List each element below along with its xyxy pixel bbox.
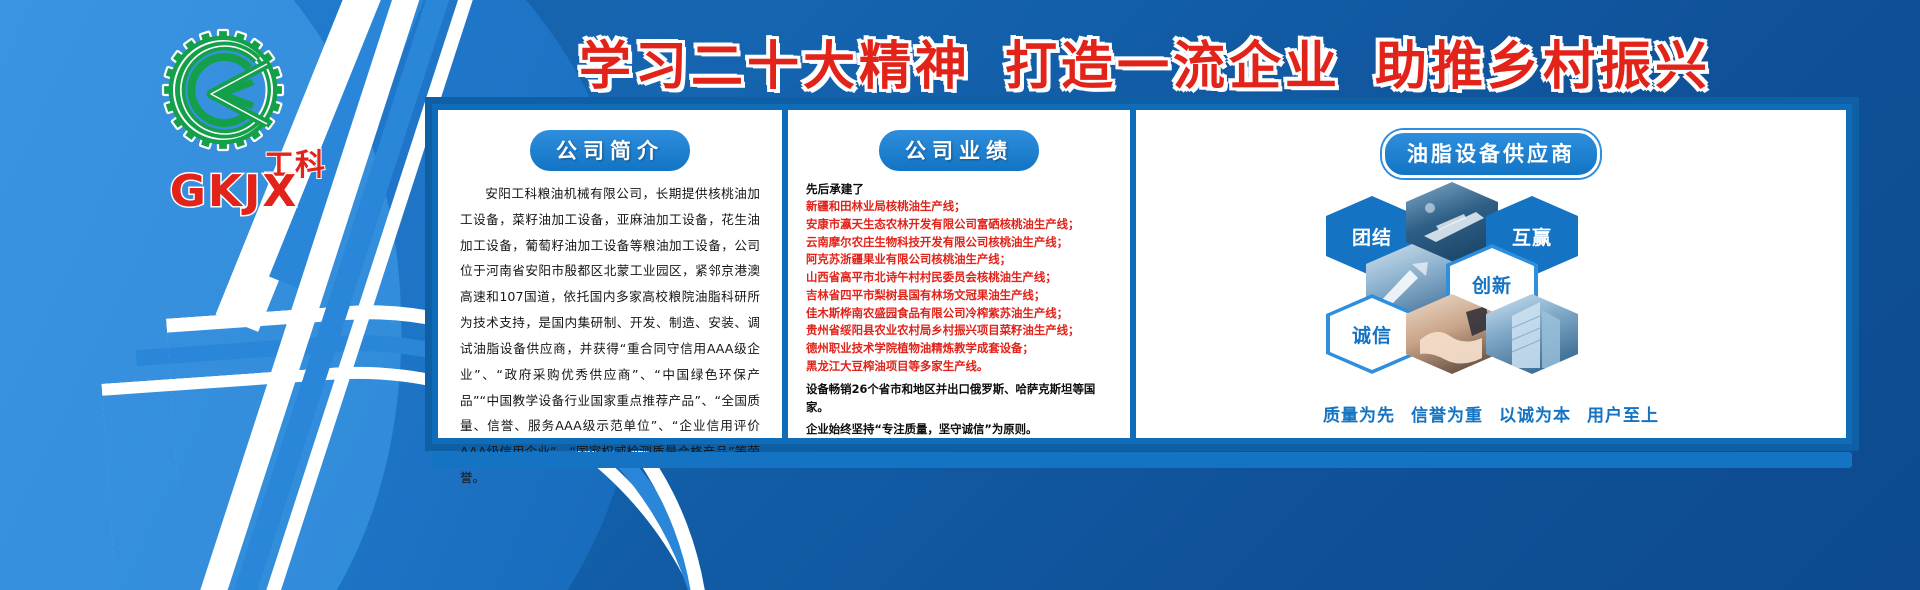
list-item: 吉林省四平市梨树县国有林场文冠果油生产线；: [806, 287, 1114, 305]
panel-title-company-profile: 公司简介: [530, 130, 690, 171]
panel-company-performance: 公司业绩 先后承建了 新疆和田林业局核桃油生产线； 安康市瀛天生态农林开发有限公…: [782, 110, 1130, 438]
slogan-part-3: 以诚为本: [1499, 406, 1571, 425]
headline-part-1: 学习二十大精神: [579, 38, 971, 96]
list-item: 云南摩尔农庄生物科技开发有限公司核桃油生产线；: [806, 234, 1114, 252]
list-item: 贵州省绥阳县农业农村局乡村振兴项目菜籽油生产线；: [806, 322, 1114, 340]
page-title: 学习二十大精神打造一流企业助推乡村振兴: [430, 24, 1860, 99]
panel-title-company-performance: 公司业绩: [879, 130, 1039, 171]
headline-part-2: 打造一流企业: [1005, 38, 1341, 96]
list-item: 阿克苏浙疆果业有限公司核桃油生产线；: [806, 251, 1114, 269]
slogan-part-1: 质量为先: [1323, 406, 1395, 425]
panel-company-profile: 公司简介 安阳工科粮油机械有限公司，长期提供核桃油加工设备，菜籽油加工设备，亚麻…: [438, 110, 782, 438]
supplier-badge: 油脂设备供应商: [1382, 130, 1600, 178]
list-item: 佳木斯桦南农盛园食品有限公司冷榨紫苏油生产线；: [806, 305, 1114, 323]
list-item: 新疆和田林业局核桃油生产线；: [806, 198, 1114, 216]
bottom-accent-band: [432, 452, 1852, 468]
headline-part-3: 助推乡村振兴: [1375, 38, 1711, 96]
slogan-part-2: 信誉为重: [1411, 406, 1483, 425]
company-logo: 工科 GKJX: [118, 28, 328, 208]
company-profile-text: 安阳工科粮油机械有限公司，长期提供核桃油加工设备，菜籽油加工设备，亚麻油加工设备…: [454, 181, 766, 491]
hex-label: 互赢: [1512, 223, 1552, 250]
panel-supplier: 油脂设备供应商 团结 互赢: [1130, 110, 1846, 438]
content-panels: 公司简介 安阳工科粮油机械有限公司，长期提供核桃油加工设备，菜籽油加工设备，亚麻…: [432, 104, 1852, 444]
supplier-slogan: 质量为先信誉为重以诚为本用户至上: [1136, 401, 1846, 426]
performance-footer-line-2: 企业始终坚持“专注质量，坚守诚信”为原则。: [806, 420, 1114, 438]
performance-intro: 先后承建了: [806, 181, 1114, 197]
hex-label: 团结: [1352, 223, 1392, 250]
performance-list: 新疆和田林业局核桃油生产线； 安康市瀛天生态农林开发有限公司富硒核桃油生产线； …: [806, 198, 1114, 376]
list-item: 山西省高平市北诗午村村民委员会核桃油生产线；: [806, 269, 1114, 287]
hex-label: 诚信: [1352, 321, 1392, 348]
list-item: 黑龙江大豆榨油项目等多家生产线。: [806, 358, 1114, 376]
logo-latin-name: GKJX: [134, 166, 334, 217]
list-item: 安康市瀛天生态农林开发有限公司富硒核桃油生产线；: [806, 216, 1114, 234]
list-item: 德州职业技术学院植物油精炼教学成套设备；: [806, 340, 1114, 358]
gkjx-gear-emblem-icon: [153, 28, 293, 158]
hexagon-cluster: 团结 互赢: [1326, 182, 1656, 382]
hex-label: 创新: [1472, 271, 1512, 298]
poster-banner: 工科 GKJX 学习二十大精神打造一流企业助推乡村振兴 公司简介 安阳工科粮油机…: [0, 0, 1920, 590]
performance-footer-line-1: 设备畅销26个省市和地区并出口俄罗斯、哈萨克斯坦等国家。: [806, 380, 1114, 417]
slogan-part-4: 用户至上: [1587, 406, 1659, 425]
